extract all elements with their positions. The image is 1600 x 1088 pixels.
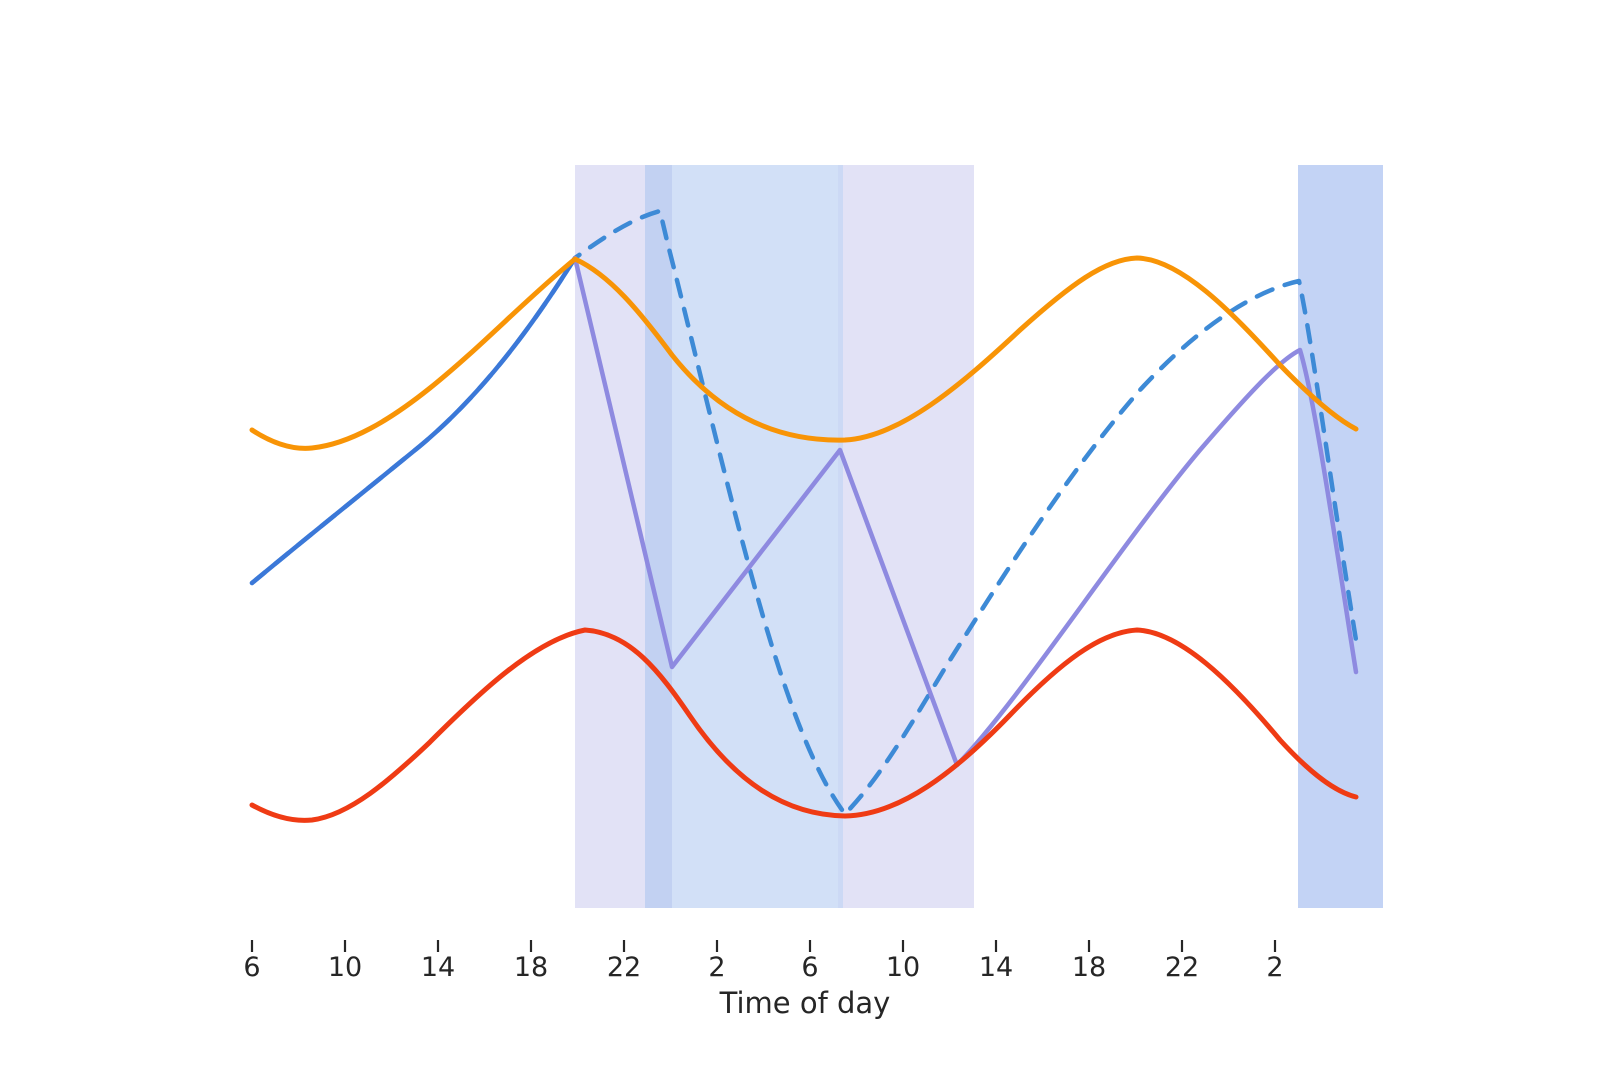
x-tick-label-9: 18 (1072, 952, 1106, 983)
x-tick-label-6: 6 (801, 952, 818, 983)
x-tick-label-4: 22 (607, 952, 641, 983)
x-tick-label-7: 10 (886, 952, 920, 983)
x-tick-label-11: 2 (1266, 952, 1283, 983)
x-tick-label-5: 2 (708, 952, 725, 983)
x-tick-label-0: 6 (243, 952, 260, 983)
x-tick-label-8: 14 (979, 952, 1013, 983)
x-tick-label-10: 22 (1165, 952, 1199, 983)
band-1-lavender (575, 165, 645, 908)
x-axis-ticks (252, 940, 1275, 952)
line-chart-svg (0, 0, 1600, 1088)
shaded-bands (575, 165, 1383, 908)
x-tick-label-1: 10 (328, 952, 362, 983)
x-tick-label-2: 14 (421, 952, 455, 983)
series-blue-solid-rising (252, 258, 575, 583)
band-3b-divider (838, 165, 843, 908)
x-tick-label-3: 18 (514, 952, 548, 983)
x-axis-title: Time of day (720, 986, 891, 1020)
band-3-light-blue (672, 165, 840, 908)
chart-figure: 6 10 14 18 22 2 6 10 14 18 22 2 Time of … (0, 0, 1600, 1088)
band-2-medium-blue (645, 165, 672, 908)
